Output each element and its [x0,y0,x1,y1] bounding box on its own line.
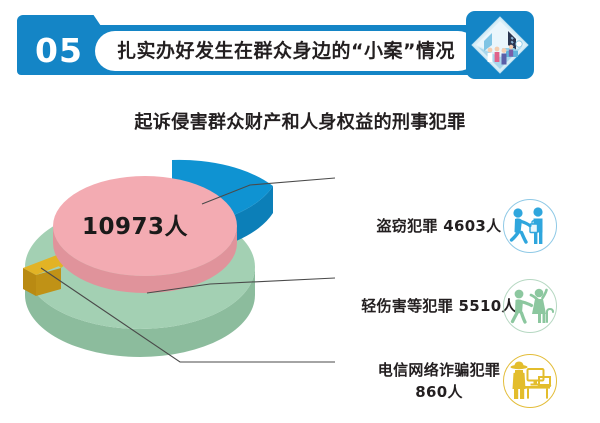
chart-title: 起诉侵害群众财产和人身权益的刑事犯罪 [0,108,600,134]
section-header-banner: 05 扎实办好发生在群众身边的“小案”情况 [17,15,487,75]
legend-item-theft[interactable]: 盗窃犯罪 4603人 [345,195,600,257]
legend-label-theft: 盗窃犯罪 4603人 [377,215,502,237]
banner-title-pill: 扎实办好发生在群众身边的“小案”情况 [95,31,478,71]
pie-center-disc [53,176,237,276]
legend-value-telecom: 860人 [415,381,463,403]
office-scene-icon [466,11,534,79]
legend-item-assault[interactable]: 轻伤害等犯罪 5510人 [345,275,600,337]
legend-item-telecom-fraud[interactable]: 电信网络诈骗犯罪 860人 [345,350,600,412]
pie-chart-svg [5,150,335,365]
pie-chart [5,150,335,365]
assault-icon [503,279,557,333]
legend-label-telecom: 电信网络诈骗犯罪 [378,359,500,381]
chart-legend: 盗窃犯罪 4603人 轻伤害等犯罪 5510人 [345,150,600,415]
telecom-fraud-icon [503,354,557,408]
section-number: 05 [35,32,83,70]
section-title: 扎实办好发生在群众身边的“小案”情况 [117,31,455,71]
legend-label-assault: 轻伤害等犯罪 5510人 [361,295,517,317]
theft-icon [503,199,557,253]
